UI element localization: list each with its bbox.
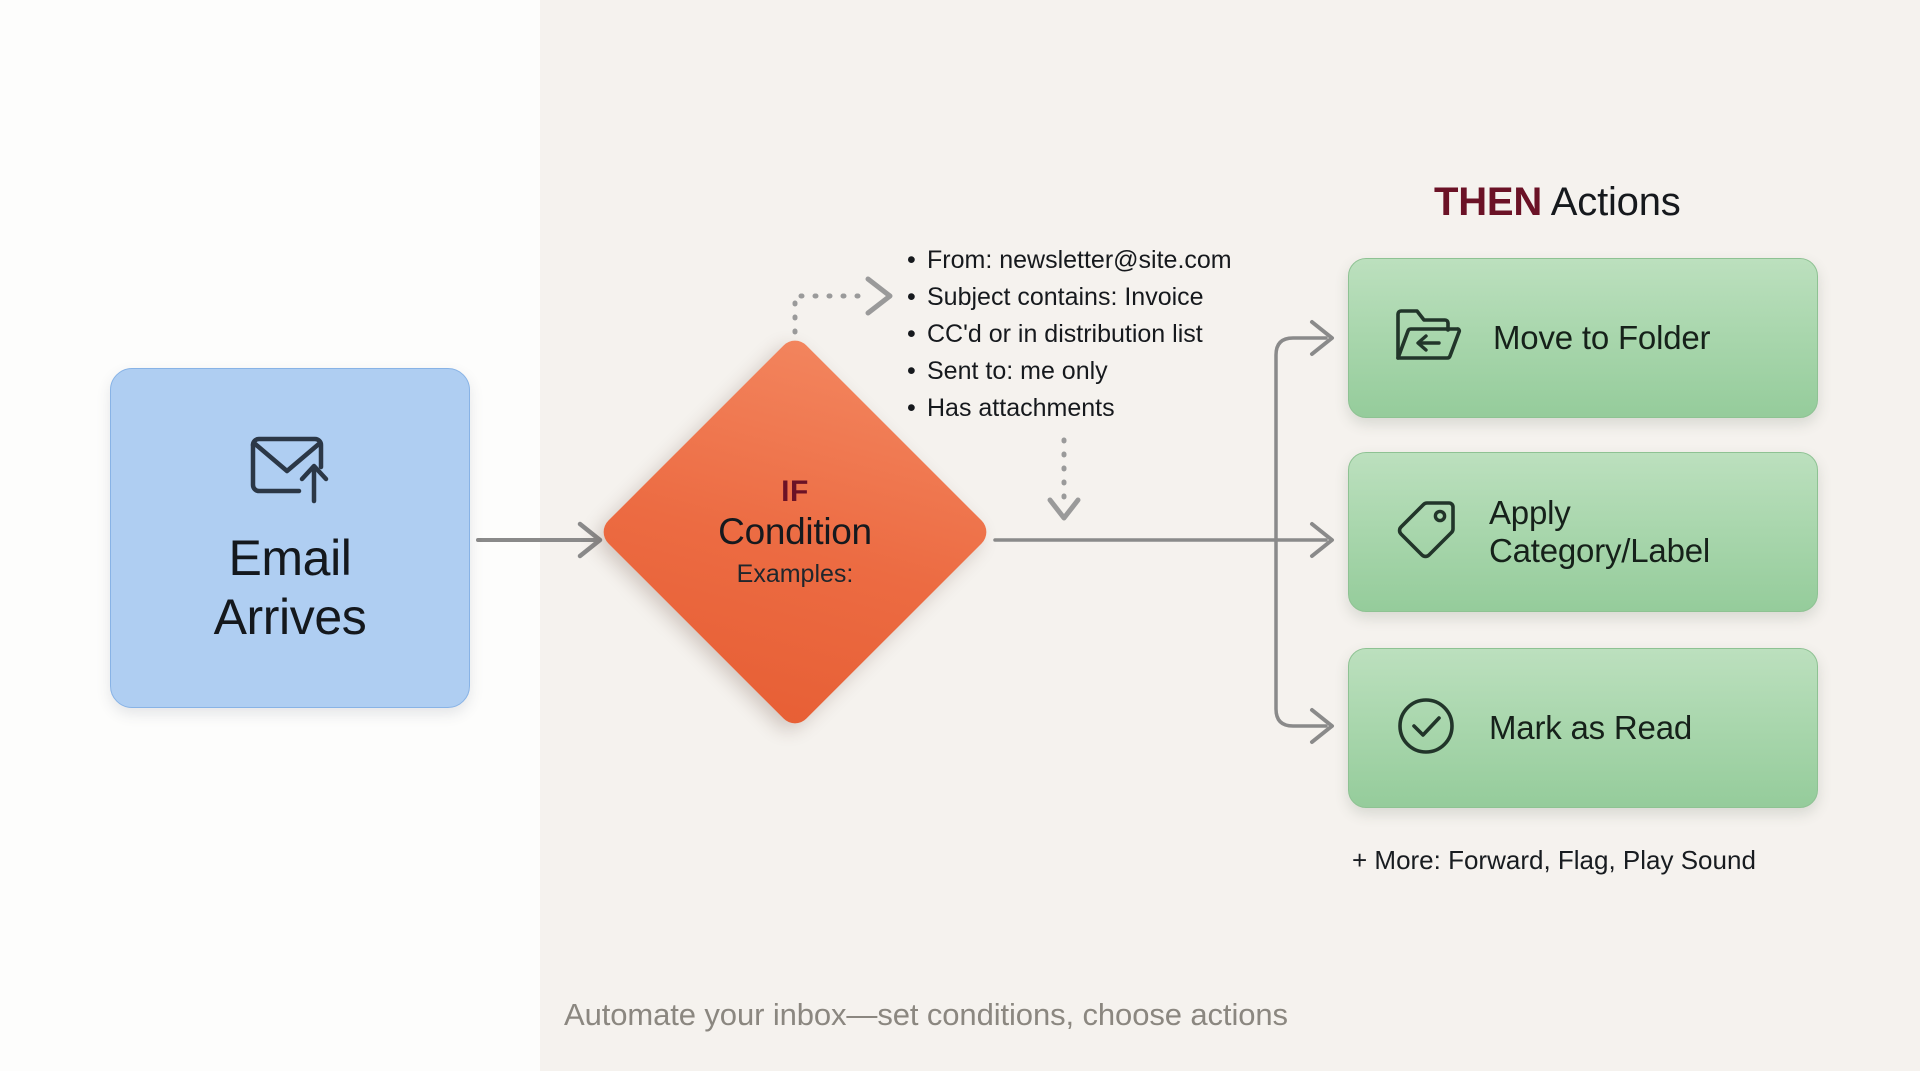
actions-word: Actions — [1542, 180, 1680, 224]
trigger-card-email-arrives[interactable]: Email Arrives — [110, 368, 470, 708]
action-label: Move to Folder — [1493, 319, 1710, 357]
condition-item: From: newsletter@site.com — [905, 242, 1305, 279]
action-label: Apply Category/Label — [1489, 494, 1710, 569]
action-card-apply-category-label[interactable]: Apply Category/Label — [1348, 452, 1818, 612]
action-card-mark-as-read[interactable]: Mark as Read — [1348, 648, 1818, 808]
action-label: Mark as Read — [1489, 709, 1692, 747]
trigger-label-line1: Email — [228, 532, 351, 585]
diagram-caption: Automate your inbox—set conditions, choo… — [564, 997, 1288, 1033]
condition-item: Sent to: me only — [905, 353, 1305, 390]
tag-icon — [1393, 497, 1459, 568]
decision-subtitle: Examples: — [737, 560, 854, 589]
then-actions-header: THEN Actions — [1434, 180, 1681, 225]
trigger-label-line2: Arrives — [214, 591, 367, 644]
condition-examples-list: From: newsletter@site.com Subject contai… — [905, 242, 1305, 427]
condition-item: Subject contains: Invoice — [905, 279, 1305, 316]
folder-move-in-icon — [1393, 306, 1463, 371]
action-label-line1: Apply — [1489, 494, 1710, 532]
condition-item: CC'd or in distribution list — [905, 316, 1305, 353]
condition-item: Has attachments — [905, 390, 1305, 427]
action-card-move-to-folder[interactable]: Move to Folder — [1348, 258, 1818, 418]
decision-keyword-if: IF — [781, 475, 809, 509]
action-label-line2: Category/Label — [1489, 532, 1710, 570]
more-actions-note: + More: Forward, Flag, Play Sound — [1352, 845, 1756, 876]
envelope-arrow-up-icon — [247, 433, 333, 512]
then-keyword: THEN — [1434, 180, 1542, 224]
diagram-canvas: Email Arrives IF Condition Examples: Fro… — [0, 0, 1920, 1071]
decision-title: Condition — [718, 511, 872, 553]
check-circle-icon — [1393, 693, 1459, 764]
